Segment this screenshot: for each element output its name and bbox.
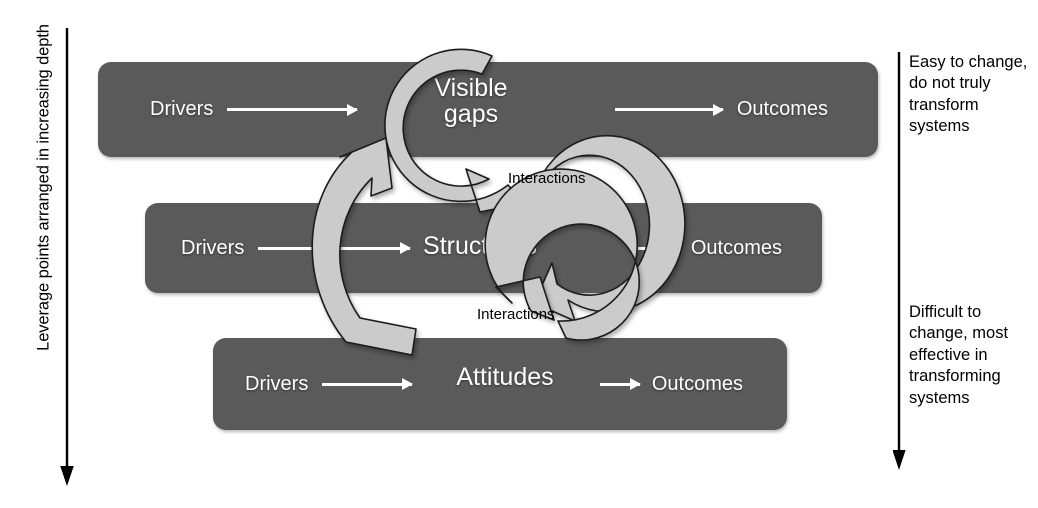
left-axis-arrow-icon	[56, 28, 86, 490]
right-axis: Easy to change, do not truly transform s…	[893, 52, 1038, 472]
interactions-label-0: Interactions	[508, 170, 586, 187]
left-axis-label: Leverage points arranged in increasing d…	[35, 0, 54, 392]
diagram-canvas: Leverage points arranged in increasing d…	[0, 0, 1038, 508]
level-target-label-0: Outcomes	[737, 98, 828, 121]
right-note-1: Difficult to change, most effective in t…	[909, 302, 1037, 409]
flow-arrow-icon-2b	[600, 383, 640, 386]
interactions-label-1: Interactions	[477, 306, 555, 323]
level-target-label-2: Outcomes	[652, 373, 743, 396]
level-target-label-1: Outcomes	[691, 237, 782, 260]
level-center-label-1: Structures	[375, 232, 585, 261]
level-center-label-2: Attitudes	[420, 363, 590, 392]
right-note-0: Easy to change, do not truly transform s…	[909, 52, 1037, 138]
left-axis: Leverage points arranged in increasing d…	[8, 28, 82, 490]
level-center-label-0: Visible gaps	[411, 76, 531, 127]
flow-arrow-icon-0b	[615, 108, 723, 111]
flow-arrow-icon-1b	[631, 247, 679, 250]
